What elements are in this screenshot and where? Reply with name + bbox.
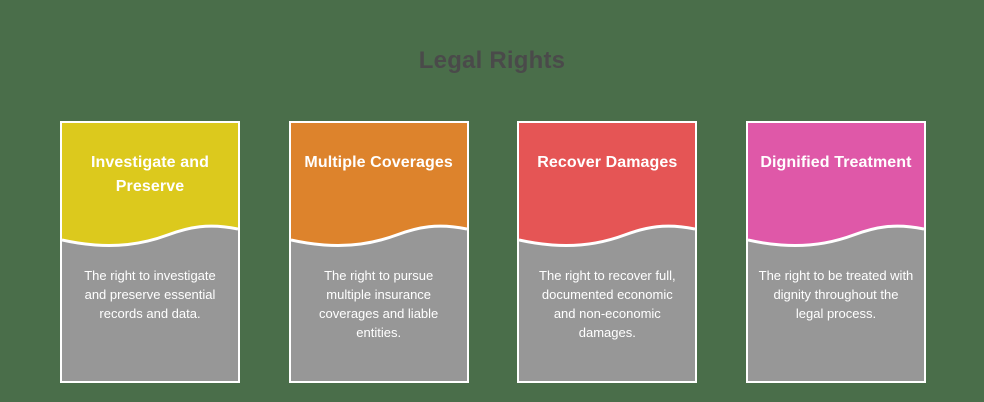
card-dignified-treatment[interactable]: Dignified Treatment The right to be trea…: [746, 121, 926, 383]
cards-row: Investigate and Preserve The right to in…: [60, 121, 926, 383]
card-body-text: The right to be treated with dignity thr…: [758, 266, 914, 323]
card-heading: Dignified Treatment: [756, 151, 916, 175]
card-investigate-and-preserve[interactable]: Investigate and Preserve The right to in…: [60, 121, 240, 383]
card-body-text: The right to pursue multiple insurance c…: [301, 266, 457, 342]
card-body-text: The right to investigate and preserve es…: [72, 266, 228, 323]
infographic-root: Legal Rights Investigate and Preserve Th…: [0, 0, 984, 402]
card-accent-wave: [291, 123, 467, 253]
card-heading: Investigate and Preserve: [70, 151, 230, 199]
card-body-text: The right to recover full, documented ec…: [529, 266, 685, 342]
card-recover-damages[interactable]: Recover Damages The right to recover ful…: [517, 121, 697, 383]
wave-shape-icon: [291, 123, 467, 253]
wave-shape-icon: [519, 123, 695, 253]
card-multiple-coverages[interactable]: Multiple Coverages The right to pursue m…: [289, 121, 469, 383]
card-accent-wave: [519, 123, 695, 253]
wave-shape-icon: [748, 123, 924, 253]
page-title: Legal Rights: [0, 46, 984, 76]
card-accent-wave: [748, 123, 924, 253]
card-heading: Recover Damages: [527, 151, 687, 175]
card-heading: Multiple Coverages: [299, 151, 459, 175]
